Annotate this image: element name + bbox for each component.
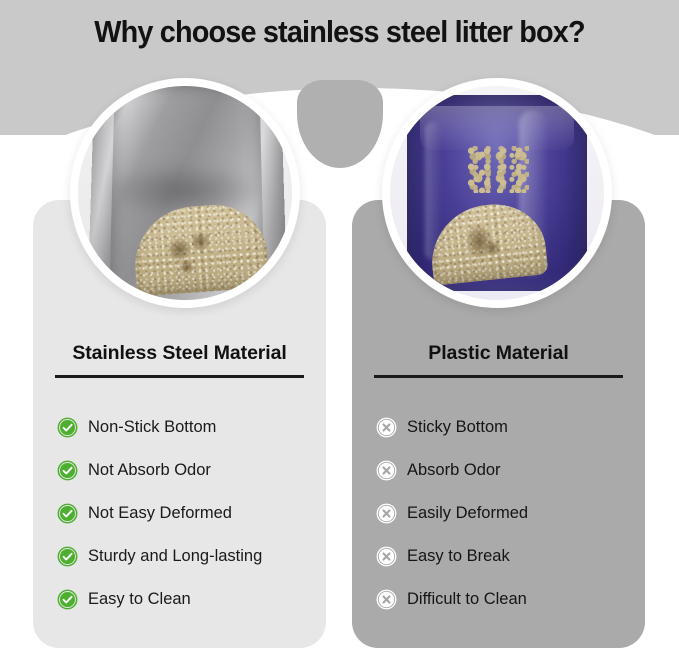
feature-list-stainless-steel: Non-Stick Bottom Not Absorb Odor Not Eas…	[57, 406, 310, 621]
card-title-stainless-steel: Stainless Steel Material	[33, 342, 326, 365]
check-circle-icon	[57, 546, 78, 567]
feature-list-plastic: Sticky Bottom Absorb Odor Easily Deforme…	[376, 406, 629, 621]
page-title: Why choose stainless steel litter box?	[24, 14, 655, 50]
feature-label: Sticky Bottom	[407, 418, 508, 436]
litter-clump	[179, 259, 193, 274]
plastic-box-shape	[407, 95, 587, 292]
list-item: Sturdy and Long-lasting	[57, 535, 310, 578]
cross-circle-icon	[376, 417, 397, 438]
feature-label: Easy to Clean	[88, 590, 191, 608]
steel-scene	[78, 86, 292, 300]
photo-frame-plastic	[382, 78, 612, 308]
feature-label: Easy to Break	[407, 547, 510, 565]
list-item: Easy to Clean	[57, 578, 310, 621]
feature-label: Non-Stick Bottom	[88, 418, 216, 436]
cross-circle-icon	[376, 546, 397, 567]
litter-stuck-to-wall	[468, 146, 529, 193]
card-title-divider	[374, 375, 623, 378]
list-item: Easily Deformed	[376, 492, 629, 535]
card-title-plastic: Plastic Material	[352, 342, 645, 365]
list-item: Easy to Break	[376, 535, 629, 578]
plastic-box-rim	[420, 106, 575, 149]
feature-label: Not Absorb Odor	[88, 461, 211, 479]
comparison-infographic: Why choose stainless steel litter box? S…	[0, 0, 679, 652]
feature-label: Not Easy Deformed	[88, 504, 232, 522]
card-title-divider	[55, 375, 304, 378]
plastic-scene	[390, 86, 604, 300]
cross-circle-icon	[376, 589, 397, 610]
product-photo-plastic	[390, 86, 604, 300]
photo-frame-stainless-steel	[70, 78, 300, 308]
check-circle-icon	[57, 589, 78, 610]
cross-circle-icon	[376, 503, 397, 524]
feature-label: Difficult to Clean	[407, 590, 527, 608]
feature-label: Absorb Odor	[407, 461, 501, 479]
litter-clump	[486, 240, 501, 256]
check-circle-icon	[57, 460, 78, 481]
list-item: Not Easy Deformed	[57, 492, 310, 535]
litter-clump	[191, 231, 210, 251]
feature-label: Sturdy and Long-lasting	[88, 547, 262, 565]
list-item: Absorb Odor	[376, 449, 629, 492]
list-item: Not Absorb Odor	[57, 449, 310, 492]
litter-clump	[167, 237, 191, 261]
feature-label: Easily Deformed	[407, 504, 528, 522]
check-circle-icon	[57, 503, 78, 524]
check-circle-icon	[57, 417, 78, 438]
list-item: Difficult to Clean	[376, 578, 629, 621]
product-photo-stainless-steel	[78, 86, 292, 300]
cross-circle-icon	[376, 460, 397, 481]
list-item: Sticky Bottom	[376, 406, 629, 449]
list-item: Non-Stick Bottom	[57, 406, 310, 449]
